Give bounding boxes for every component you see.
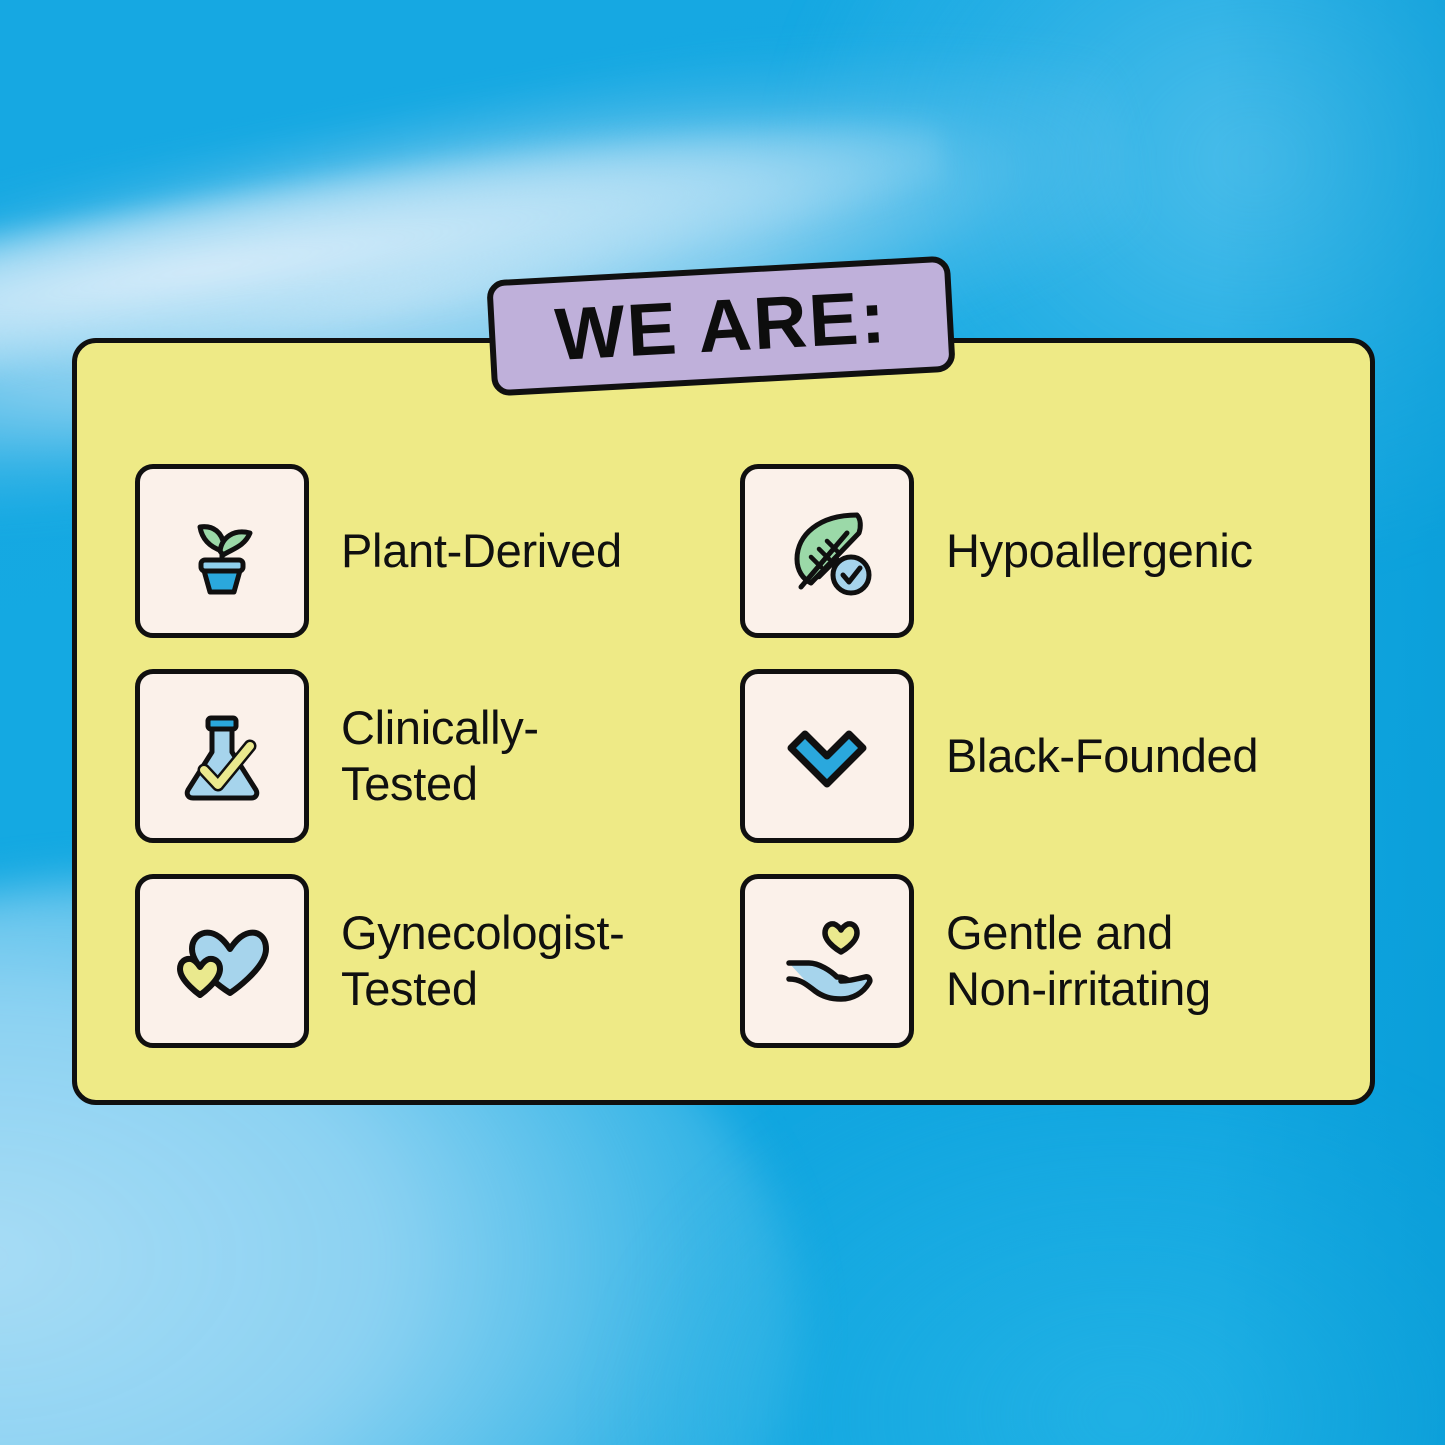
feature-label: Clinically- Tested <box>341 700 539 811</box>
feature-clinically-tested: Clinically- Tested <box>135 653 740 858</box>
feature-gynecologist-tested: Gynecologist- Tested <box>135 858 740 1063</box>
feature-label: Hypoallergenic <box>946 523 1253 578</box>
hand-heart-icon <box>740 874 914 1048</box>
page-title: WE ARE: <box>553 280 888 372</box>
flask-check-icon <box>135 669 309 843</box>
feature-gentle-non-irritating: Gentle and Non-irritating <box>740 858 1325 1063</box>
feature-label: Gynecologist- Tested <box>341 905 624 1016</box>
features-grid: Plant-Derived Hypoallergenic <box>135 448 1325 1063</box>
feature-label: Plant-Derived <box>341 523 622 578</box>
two-hearts-icon <box>135 874 309 1048</box>
angular-heart-icon <box>740 669 914 843</box>
promo-graphic: Plant-Derived Hypoallergenic <box>0 0 1445 1445</box>
feature-label: Black-Founded <box>946 728 1258 783</box>
feature-black-founded: Black-Founded <box>740 653 1325 858</box>
feature-label: Gentle and Non-irritating <box>946 905 1211 1016</box>
potted-plant-icon <box>135 464 309 638</box>
features-card: Plant-Derived Hypoallergenic <box>72 338 1375 1105</box>
feature-plant-derived: Plant-Derived <box>135 448 740 653</box>
feature-hypoallergenic: Hypoallergenic <box>740 448 1325 653</box>
leaf-check-icon <box>740 464 914 638</box>
